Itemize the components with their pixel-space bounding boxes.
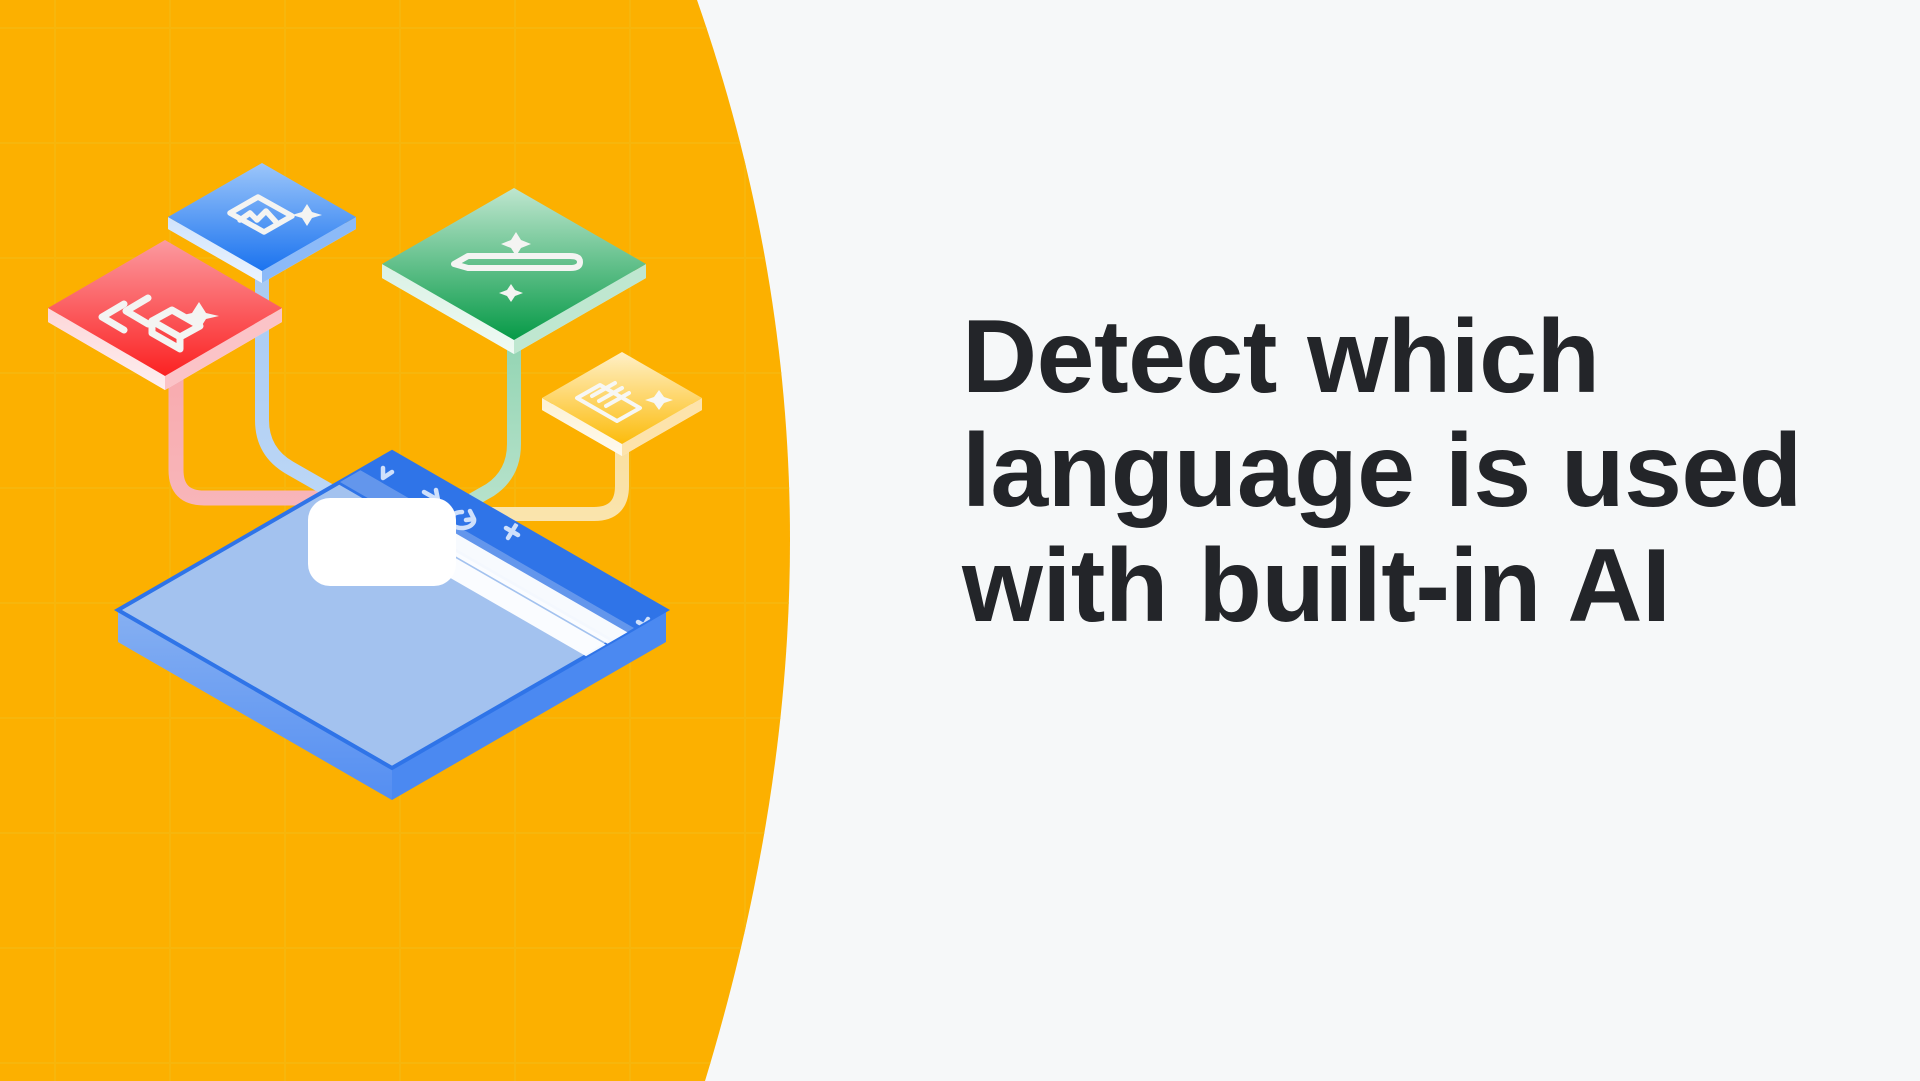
summarizer-api-tile[interactable] xyxy=(542,352,702,456)
ai-output-card xyxy=(308,498,456,586)
writer-api-tile[interactable] xyxy=(382,188,646,354)
hero-canvas: Detect which language is used with built… xyxy=(0,0,1920,1081)
illustration-root xyxy=(0,0,900,1081)
page-title: Detect which language is used with built… xyxy=(962,300,1812,643)
headline-block: Detect which language is used with built… xyxy=(962,300,1812,643)
